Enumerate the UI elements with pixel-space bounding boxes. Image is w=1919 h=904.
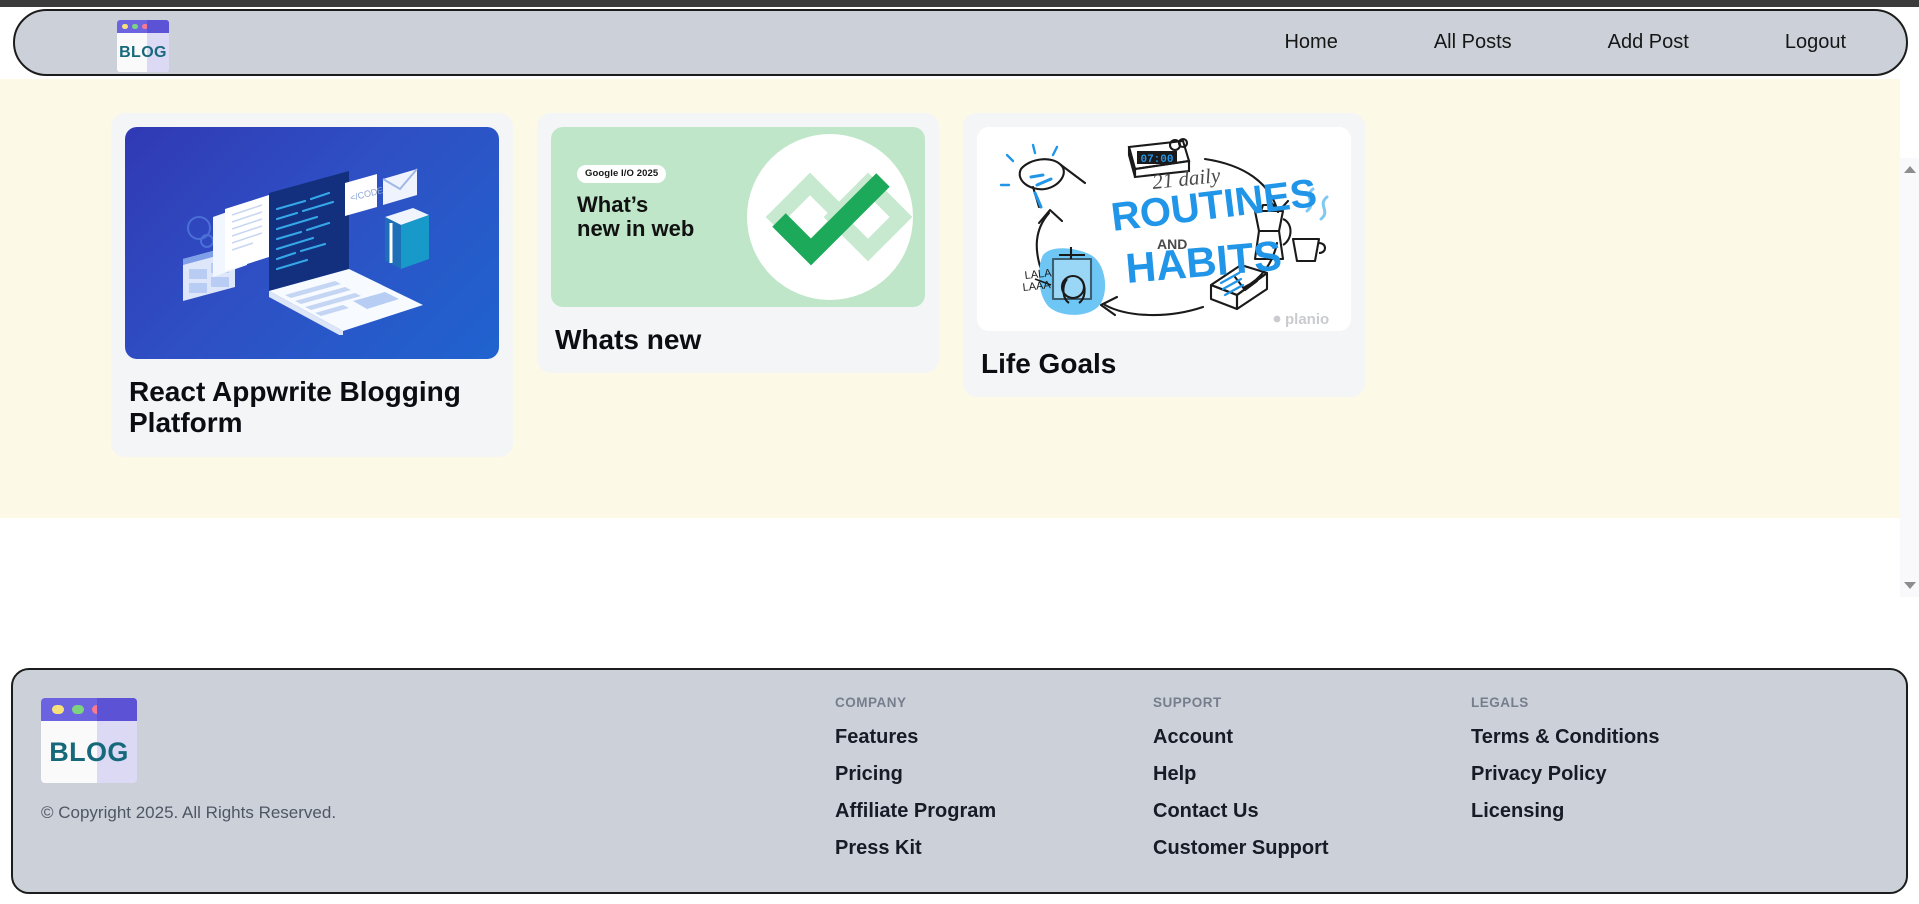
sketch-habits-label: HABITS bbox=[1124, 232, 1284, 292]
post-title: Whats new bbox=[551, 324, 925, 359]
footer-logo-text: BLOG bbox=[41, 721, 137, 783]
footer-link-customer-support[interactable]: Customer Support bbox=[1153, 837, 1329, 859]
site-footer: BLOG © Copyright 2025. All Rights Reserv… bbox=[11, 668, 1908, 894]
list-item: Features bbox=[835, 726, 1153, 749]
list-item: Privacy Policy bbox=[1471, 763, 1791, 786]
green-dot-icon bbox=[132, 24, 138, 29]
copyright-text: © Copyright 2025. All Rights Reserved. bbox=[41, 803, 381, 823]
post-thumbnail-life-goals: 07:00 bbox=[977, 127, 1351, 331]
list-item: Terms & Conditions bbox=[1471, 726, 1791, 749]
header-logo[interactable]: BLOG bbox=[117, 20, 169, 72]
footer-browser-window-blog-logo-icon[interactable]: BLOG bbox=[41, 698, 137, 783]
browser-window-blog-logo-icon: BLOG bbox=[117, 20, 169, 72]
yellow-dot-icon bbox=[122, 24, 128, 29]
footer-column-heading: SUPPORT bbox=[1153, 695, 1471, 710]
posts-scroll-area: </CODE> bbox=[0, 79, 1900, 518]
footer-link-press-kit[interactable]: Press Kit bbox=[835, 837, 922, 859]
posts-region: </CODE> bbox=[0, 79, 1919, 518]
content-scrollbar[interactable] bbox=[1900, 158, 1919, 597]
footer-column-heading: LEGALS bbox=[1471, 695, 1791, 710]
footer-column-heading: COMPANY bbox=[835, 695, 1153, 710]
list-item: Licensing bbox=[1471, 800, 1791, 823]
list-item: Press Kit bbox=[835, 837, 1153, 860]
post-card[interactable]: Google I/O 2025 What’s new in web bbox=[537, 113, 939, 373]
post-card[interactable]: 07:00 bbox=[963, 113, 1365, 397]
footer-logo-right-titlebar bbox=[97, 698, 137, 721]
footer-link-list: Account Help Contact Us Customer Support bbox=[1153, 726, 1471, 860]
sketch-watermark-label: planio bbox=[1285, 311, 1329, 328]
nav-item-add-post[interactable]: Add Post bbox=[1608, 25, 1689, 60]
list-item: Pricing bbox=[835, 763, 1153, 786]
nav-item-home[interactable]: Home bbox=[1284, 25, 1337, 60]
main-navigation: Home All Posts Add Post Logout bbox=[1284, 11, 1846, 74]
browser-chrome-strip bbox=[0, 0, 1919, 7]
footer-link-privacy-policy[interactable]: Privacy Policy bbox=[1471, 763, 1607, 785]
footer-link-list: Features Pricing Affiliate Program Press… bbox=[835, 726, 1153, 860]
footer-link-list: Terms & Conditions Privacy Policy Licens… bbox=[1471, 726, 1791, 823]
sketch-clock-label: 07:00 bbox=[1140, 154, 1173, 166]
posts-grid: </CODE> bbox=[111, 113, 1365, 457]
nav-item-all-posts[interactable]: All Posts bbox=[1434, 25, 1512, 60]
chrome-devtools-checkmark-icon bbox=[747, 134, 913, 300]
footer-column-legals: LEGALS Terms & Conditions Privacy Policy… bbox=[1471, 695, 1791, 860]
io-banner-text: Google I/O 2025 What’s new in web bbox=[577, 163, 697, 242]
footer-link-help[interactable]: Help bbox=[1153, 763, 1196, 785]
list-item: Account bbox=[1153, 726, 1471, 749]
footer-link-licensing[interactable]: Licensing bbox=[1471, 800, 1564, 822]
footer-link-pricing[interactable]: Pricing bbox=[835, 763, 903, 785]
nav-item-logout[interactable]: Logout bbox=[1785, 25, 1846, 60]
post-thumbnail-react-appwrite: </CODE> bbox=[125, 127, 499, 359]
yellow-dot-icon bbox=[52, 705, 64, 714]
footer-link-features[interactable]: Features bbox=[835, 726, 918, 748]
scroll-up-arrow-icon[interactable] bbox=[1900, 160, 1919, 179]
footer-column-company: COMPANY Features Pricing Affiliate Progr… bbox=[835, 695, 1153, 860]
logo-text: BLOG bbox=[117, 33, 169, 72]
scroll-down-arrow-icon[interactable] bbox=[1900, 576, 1919, 595]
isometric-laptop-coding-illustration-icon: </CODE> bbox=[177, 165, 447, 335]
footer-column-support: SUPPORT Account Help Contact Us Customer… bbox=[1153, 695, 1471, 860]
io-logo-circle bbox=[747, 134, 913, 300]
footer-link-contact-us[interactable]: Contact Us bbox=[1153, 800, 1259, 822]
post-card[interactable]: </CODE> bbox=[111, 113, 513, 457]
post-title: Life Goals bbox=[977, 348, 1351, 383]
footer-link-terms-conditions[interactable]: Terms & Conditions bbox=[1471, 726, 1660, 748]
post-title: React Appwrite Blogging Platform bbox=[125, 376, 499, 443]
footer-link-affiliate-program[interactable]: Affiliate Program bbox=[835, 800, 996, 822]
footer-link-account[interactable]: Account bbox=[1153, 726, 1233, 748]
post-thumbnail-whats-new: Google I/O 2025 What’s new in web bbox=[551, 127, 925, 307]
footer-brand: BLOG © Copyright 2025. All Rights Reserv… bbox=[41, 698, 381, 823]
21-daily-routines-and-habits-sketch-icon: 07:00 bbox=[977, 127, 1351, 331]
list-item: Help bbox=[1153, 763, 1471, 786]
logo-right-titlebar bbox=[147, 20, 169, 33]
list-item: Affiliate Program bbox=[835, 800, 1153, 823]
io-badge: Google I/O 2025 bbox=[577, 165, 666, 183]
io-headline: What’s new in web bbox=[577, 193, 697, 242]
list-item: Contact Us bbox=[1153, 800, 1471, 823]
green-dot-icon bbox=[72, 705, 84, 714]
list-item: Customer Support bbox=[1153, 837, 1471, 860]
site-header: BLOG Home All Posts Add Post Logout bbox=[13, 9, 1908, 76]
footer-link-columns: COMPANY Features Pricing Affiliate Progr… bbox=[835, 695, 1791, 860]
